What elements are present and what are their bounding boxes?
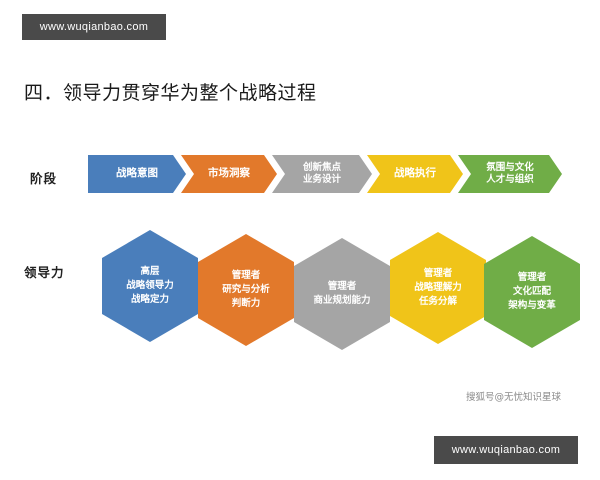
stage-chevron-row: 战略意图市场洞察创新焦点业务设计战略执行氛围与文化人才与组织 [88,155,568,193]
stage-chevron-2[interactable]: 市场洞察 [181,155,277,193]
stage-chevron-label: 创新焦点 [303,162,341,174]
leadership-hexagon-body: 管理者商业规划能力 [294,238,390,350]
leadership-hexagon-4[interactable]: 管理者战略理解力任务分解 [390,232,486,344]
leadership-hexagon-label: 战略定力 [131,293,169,307]
leadership-hexagon-label: 战略理解力 [414,281,462,295]
stage-chevron-4[interactable]: 战略执行 [367,155,463,193]
watermark-bottom: www.wuqianbao.com [434,436,578,464]
credit-line: 搜狐号@无忧知识星球 [466,389,561,403]
leadership-hexagon-body: 高层战略领导力战略定力 [102,230,198,342]
leadership-hexagon-label: 管理者 [424,267,453,281]
watermark-top: www.wuqianbao.com [22,14,166,40]
stage-chevron-1[interactable]: 战略意图 [88,155,186,193]
leadership-hexagon-body: 管理者文化匹配架构与变革 [484,236,580,348]
page-title: 四．领导力贯穿华为整个战略过程 [24,78,317,105]
leadership-hexagon-label: 管理者 [232,269,261,283]
stage-chevron-label: 市场洞察 [208,167,250,180]
leadership-hexagon-1[interactable]: 高层战略领导力战略定力 [102,230,198,342]
row-label-leadership: 领导力 [24,262,65,281]
leadership-hexagon-label: 任务分解 [419,295,457,309]
leadership-hexagon-label: 判断力 [232,297,261,311]
row-label-stage: 阶段 [30,168,57,187]
stage-chevron-label: 战略意图 [116,167,158,180]
leadership-hexagon-body: 管理者研究与分析判断力 [198,234,294,346]
leadership-hexagon-row: 高层战略领导力战略定力管理者研究与分析判断力管理者商业规划能力管理者战略理解力任… [84,212,584,342]
leadership-hexagon-label: 文化匹配 [513,285,551,299]
leadership-hexagon-label: 管理者 [518,271,547,285]
stage-chevron-5[interactable]: 氛围与文化人才与组织 [458,155,562,193]
leadership-hexagon-label: 架构与变革 [508,299,556,313]
stage-chevron-label: 业务设计 [303,174,341,186]
stage-chevron-3[interactable]: 创新焦点业务设计 [272,155,372,193]
stage-chevron-label: 氛围与文化 [486,162,534,174]
leadership-hexagon-label: 高层 [140,265,159,279]
leadership-hexagon-3[interactable]: 管理者商业规划能力 [294,238,390,350]
leadership-hexagon-2[interactable]: 管理者研究与分析判断力 [198,234,294,346]
leadership-hexagon-5[interactable]: 管理者文化匹配架构与变革 [484,236,580,348]
stage-chevron-label: 战略执行 [394,167,436,180]
leadership-hexagon-label: 管理者 [328,280,357,294]
leadership-hexagon-label: 研究与分析 [222,283,270,297]
leadership-hexagon-label: 战略领导力 [126,279,174,293]
stage-chevron-label: 人才与组织 [486,174,534,186]
leadership-hexagon-body: 管理者战略理解力任务分解 [390,232,486,344]
leadership-hexagon-label: 商业规划能力 [313,294,370,308]
